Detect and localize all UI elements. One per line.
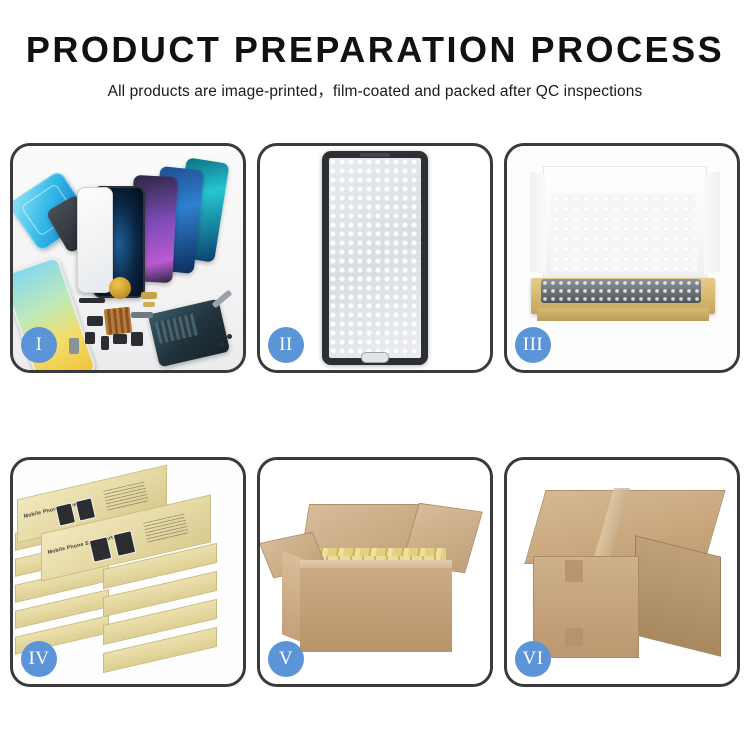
- step-panel-6: VI: [504, 457, 740, 687]
- page-subtitle: All products are image-printed，film-coat…: [0, 79, 750, 101]
- step-panel-4: Mobile Phone Spare Parts Mobile Phone Sp…: [10, 457, 246, 687]
- step-badge-5: V: [268, 641, 304, 677]
- bubble-wrapped-screen: [322, 151, 428, 365]
- step-panel-2: II: [257, 143, 493, 373]
- steps-grid: I II III: [10, 143, 740, 687]
- header: PRODUCT PREPARATION PROCESS All products…: [0, 0, 750, 101]
- copper-shield-part: [104, 307, 133, 336]
- page-title: PRODUCT PREPARATION PROCESS: [0, 30, 750, 70]
- step-panel-1: I: [10, 143, 246, 373]
- part-flex-1: [79, 298, 105, 303]
- wrapped-screen-in-box: [541, 279, 701, 303]
- product-preparation-infographic: PRODUCT PREPARATION PROCESS All products…: [0, 0, 750, 750]
- foam-padding: [551, 194, 697, 272]
- carton-front-panel: [300, 568, 452, 652]
- step-panel-5: V: [257, 457, 493, 687]
- part-connector-2: [143, 302, 155, 307]
- step-panel-3: III: [504, 143, 740, 373]
- part-flex-2: [87, 316, 103, 326]
- part-camera: [113, 334, 127, 344]
- kraft-box-front: [537, 308, 709, 321]
- step-badge-2: II: [268, 327, 304, 363]
- carton-front-panel: [533, 556, 639, 658]
- carton-right-panel: [635, 535, 721, 656]
- carton-tab-upper: [565, 560, 583, 582]
- step-badge-4: IV: [21, 641, 57, 677]
- phone-white-front: [77, 187, 113, 293]
- step-badge-3: III: [515, 327, 551, 363]
- part-screw-2: [227, 334, 232, 339]
- carton-tab-lower: [565, 628, 583, 646]
- part-flex-5: [131, 312, 153, 318]
- part-speaker: [131, 332, 143, 346]
- step-badge-1: I: [21, 327, 57, 363]
- step-badge-6: VI: [515, 641, 551, 677]
- part-sim-tray: [69, 338, 79, 354]
- part-flex-3: [85, 332, 95, 344]
- part-connector-1: [141, 292, 157, 299]
- vibration-motor-part: [109, 277, 131, 299]
- part-flex-4: [101, 336, 109, 350]
- part-screw-1: [219, 342, 224, 347]
